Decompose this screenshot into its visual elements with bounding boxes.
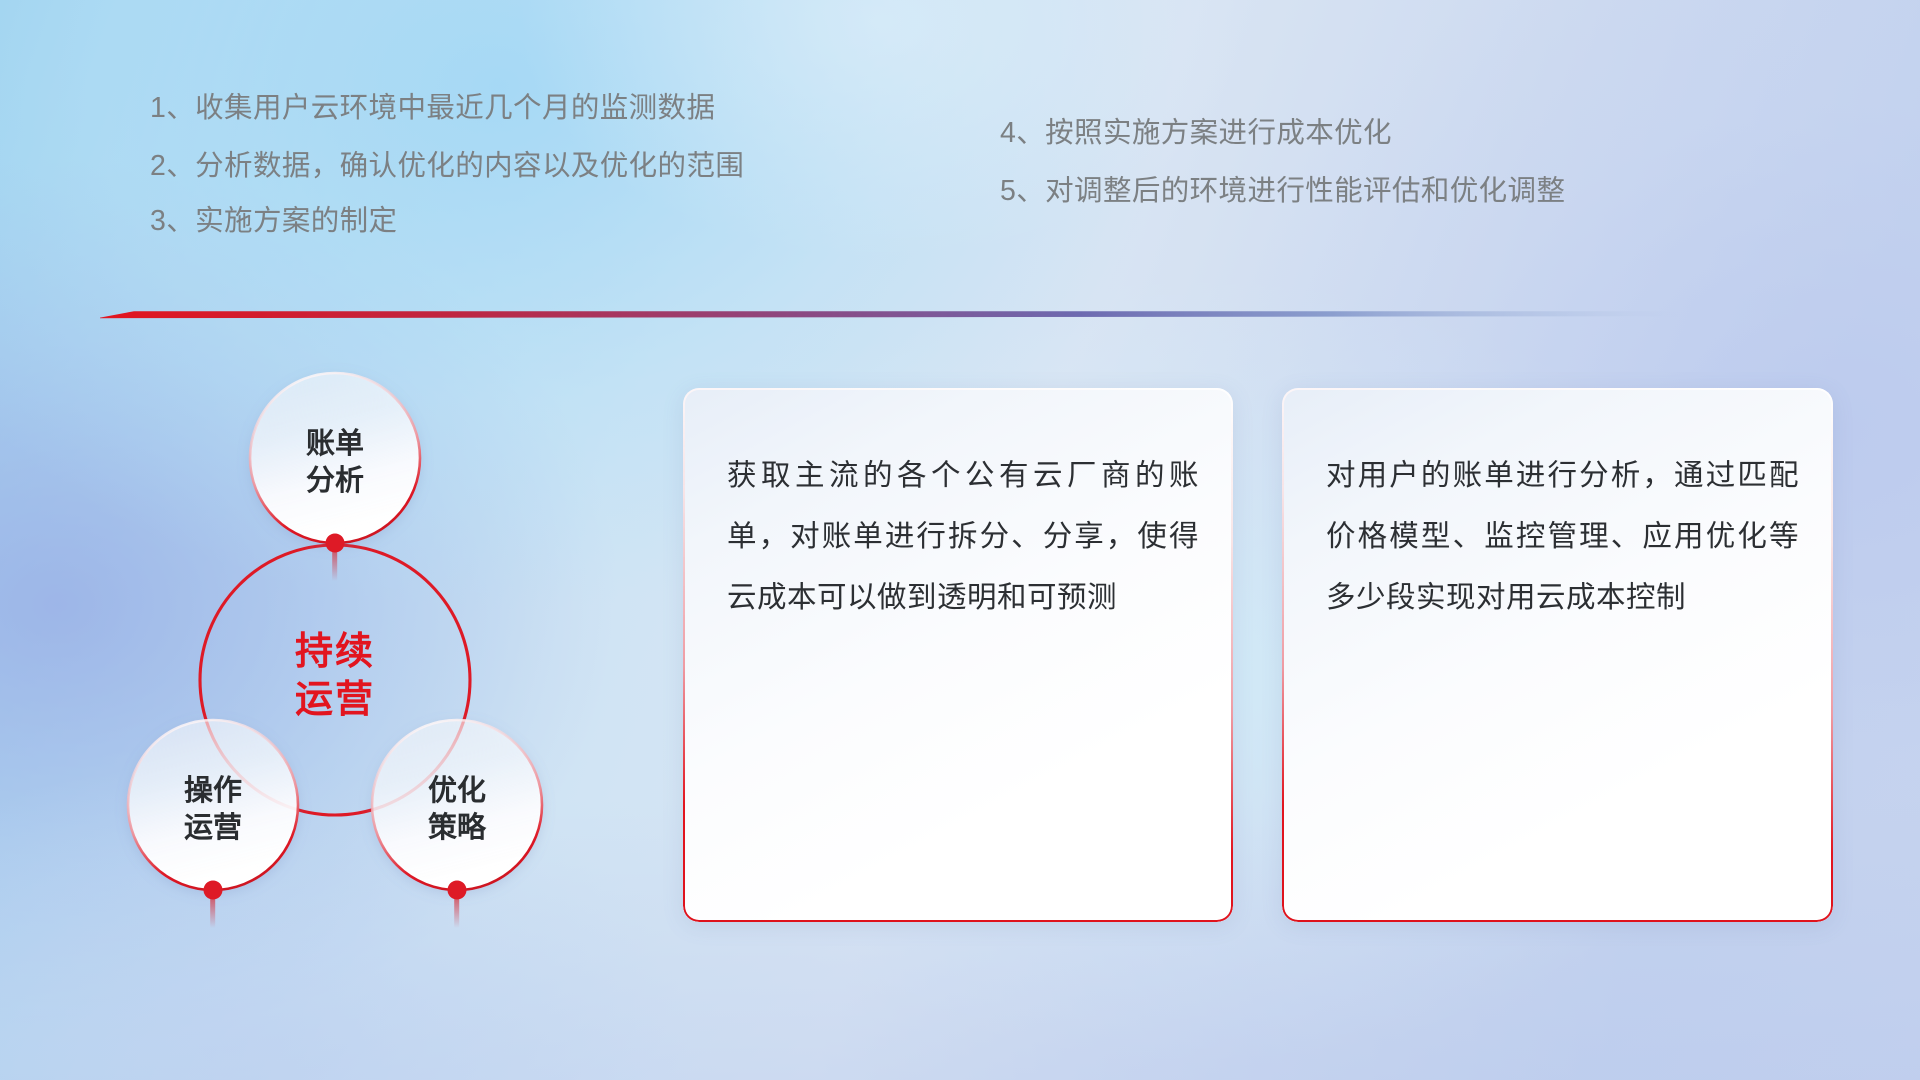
node-label-line1: 操作: [184, 774, 242, 807]
node-label-line2: 分析: [306, 464, 364, 497]
step-item: 1、收集用户云环境中最近几个月的监测数据: [150, 94, 744, 123]
diagram-node-optimization-policy[interactable]: 优化 策略: [372, 720, 542, 928]
step-item: 5、对调整后的环境进行性能评估和优化调整: [1000, 177, 1565, 206]
steps-right-column: 4、按照实施方案进行成本优化 5、对调整后的环境进行性能评估和优化调整: [1000, 119, 1565, 234]
continuous-operation-diagram: 操作 运营 优化 策略 账单 分析 持续 运营: [95, 350, 655, 960]
card-description: 获取主流的各个公有云厂商的账单，对账单进行拆分、分享，使得云成本可以做到透明和可…: [727, 446, 1199, 628]
node-label-line2: 运营: [184, 811, 242, 844]
diagram-node-operations[interactable]: 操作 运营: [128, 720, 298, 928]
info-card-multi-cloud-bill-platform[interactable]: 获取主流的各个公有云厂商的账单，对账单进行拆分、分享，使得云成本可以做到透明和可…: [683, 388, 1233, 922]
steps-section: 1、收集用户云环境中最近几个月的监测数据 2、分析数据，确认优化的内容以及优化的…: [0, 0, 1920, 300]
step-item: 4、按照实施方案进行成本优化: [1000, 119, 1565, 148]
node-label-line1: 账单: [306, 427, 364, 460]
node-label-line2: 策略: [428, 810, 487, 844]
card-description: 对用户的账单进行分析，通过匹配价格模型、监控管理、应用优化等多少段实现对用云成本…: [1326, 446, 1799, 628]
steps-left-column: 1、收集用户云环境中最近几个月的监测数据 2、分析数据，确认优化的内容以及优化的…: [150, 94, 744, 265]
step-item: 2、分析数据，确认优化的内容以及优化的范围: [150, 152, 744, 181]
step-item: 3、实施方案的制定: [150, 207, 744, 236]
diagram-node-bill-analysis[interactable]: 账单 分析: [250, 373, 420, 581]
diagram-center-label-line2: 运营: [295, 679, 375, 721]
info-card-cloud-cost-optimization[interactable]: 对用户的账单进行分析，通过匹配价格模型、监控管理、应用优化等多少段实现对用云成本…: [1282, 388, 1833, 922]
section-divider: [100, 308, 1680, 320]
diagram-center-label-line1: 持续: [295, 631, 375, 673]
node-label-line1: 优化: [428, 774, 486, 807]
